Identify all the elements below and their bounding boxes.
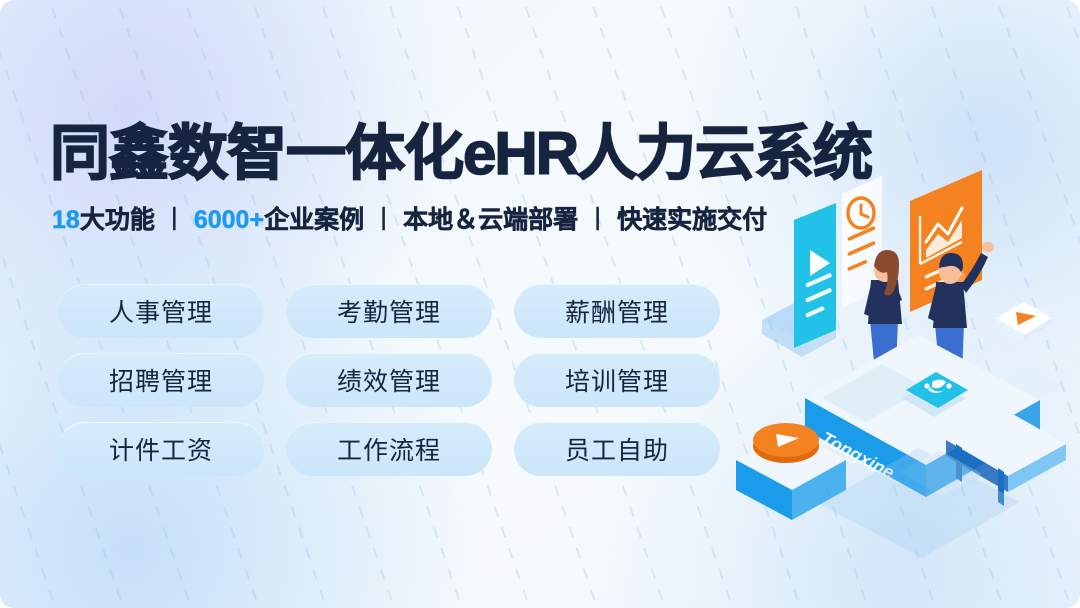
subtitle-count-functions: 18 <box>52 206 80 234</box>
feature-pill-label: 人事管理 <box>109 293 213 329</box>
title-latin: eHR <box>463 120 577 187</box>
subtitle-text-deployment: 本地＆云端部署 <box>403 206 578 234</box>
page-title: 同鑫数智一体化eHR人力云系统 <box>50 124 872 184</box>
feature-pill-selfservice[interactable]: 员工自助 <box>514 422 720 476</box>
feature-pill-attendance[interactable]: 考勤管理 <box>286 284 492 338</box>
feature-pill-label: 工作流程 <box>337 431 441 467</box>
text-content: 同鑫数智一体化eHR人力云系统 18大功能丨6000+企业案例丨本地＆云端部署丨… <box>0 0 760 608</box>
feature-pill-label: 绩效管理 <box>337 362 441 398</box>
feature-pill-payroll[interactable]: 薪酬管理 <box>514 284 720 338</box>
subtitle-text-delivery: 快速实施交付 <box>617 206 767 234</box>
feature-pill-recruitment[interactable]: 招聘管理 <box>58 353 264 407</box>
feature-pill-performance[interactable]: 绩效管理 <box>286 353 492 407</box>
feature-pill-label: 考勤管理 <box>337 293 441 329</box>
subtitle-text-functions: 大功能 <box>80 206 155 234</box>
cyan-media-panel <box>794 203 836 348</box>
feature-pill-label: 员工自助 <box>565 431 669 467</box>
promo-banner: 同鑫数智一体化eHR人力云系统 18大功能丨6000+企业案例丨本地＆云端部署丨… <box>0 0 1080 608</box>
subtitle-separator-2: 丨 <box>364 206 403 234</box>
subtitle-text-cases: 企业案例 <box>264 206 364 234</box>
subtitle-count-cases: 6000+ <box>194 206 264 234</box>
feature-pill-label: 招聘管理 <box>109 362 213 398</box>
title-main: 同鑫数智一体化 <box>50 120 463 187</box>
isometric-illustration: Tongxine <box>750 172 1080 512</box>
subtitle: 18大功能丨6000+企业案例丨本地＆云端部署丨快速实施交付 <box>52 208 767 233</box>
orange-play-disc <box>753 423 819 463</box>
feature-pill-label: 计件工资 <box>109 431 213 467</box>
floating-play-tile <box>996 302 1052 340</box>
feature-pill-piecework[interactable]: 计件工资 <box>58 422 264 476</box>
subtitle-separator-3: 丨 <box>578 206 617 234</box>
feature-pill-workflow[interactable]: 工作流程 <box>286 422 492 476</box>
feature-pill-label: 薪酬管理 <box>565 293 669 329</box>
feature-pill-hr[interactable]: 人事管理 <box>58 284 264 338</box>
feature-pill-label: 培训管理 <box>565 362 669 398</box>
subtitle-separator-1: 丨 <box>155 206 194 234</box>
feature-pill-grid: 人事管理 考勤管理 薪酬管理 招聘管理 绩效管理 培训管理 计件工资 工作流程 … <box>58 284 738 476</box>
feature-pill-training[interactable]: 培训管理 <box>514 353 720 407</box>
